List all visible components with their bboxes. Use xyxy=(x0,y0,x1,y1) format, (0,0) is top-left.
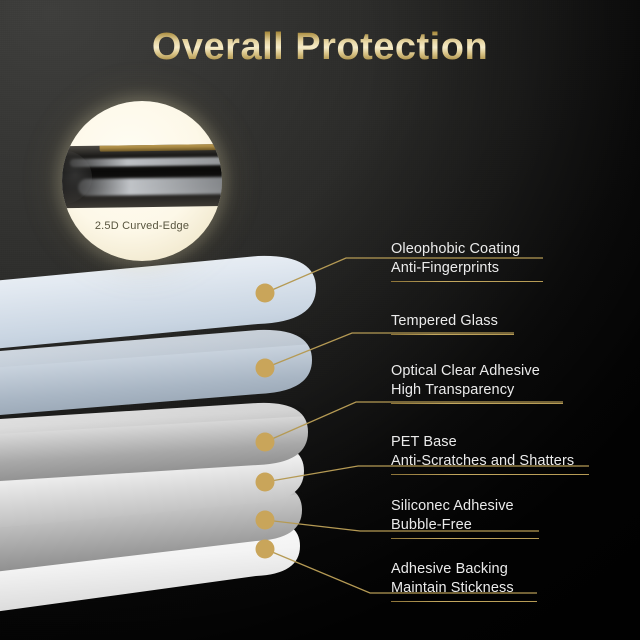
screen-protector-strip xyxy=(100,143,222,151)
callout-line2: Maintain Stickness xyxy=(391,579,537,598)
callout-line2: High Transparency xyxy=(391,381,563,400)
callout-line1: Optical Clear Adhesive xyxy=(391,363,540,379)
callout-tempered-glass: Tempered Glass xyxy=(391,312,514,335)
inset-caption: 2.5D Curved-Edge xyxy=(62,220,222,232)
callout-adhesive-backing: Adhesive Backing Maintain Stickness xyxy=(391,560,537,602)
callout-line1: PET Base xyxy=(391,434,457,450)
callout-line2: Bubble-Free xyxy=(391,516,539,535)
callout-optical-clear-adhesive: Optical Clear Adhesive High Transparency xyxy=(391,362,563,404)
callout-underline xyxy=(391,281,543,282)
callout-underline xyxy=(391,538,539,539)
callout-line1: Adhesive Backing xyxy=(391,561,508,577)
phone-edge-illustration xyxy=(62,143,222,208)
background-gradient xyxy=(0,0,640,640)
callout-line1: Tempered Glass xyxy=(391,313,498,329)
callout-line1: Siliconec Adhesive xyxy=(391,498,514,514)
edge-highlight-upper xyxy=(70,156,222,167)
callout-oleophobic-coating: Oleophobic Coating Anti-Fingerprints xyxy=(391,240,543,282)
callout-underline xyxy=(391,403,563,404)
curved-edge-inset: 2.5D Curved-Edge xyxy=(62,101,222,261)
callout-line1: Oleophobic Coating xyxy=(391,241,520,257)
product-infographic: Overall Protection 2.5D Curved-Edge Oleo… xyxy=(0,0,640,640)
page-title: Overall Protection xyxy=(0,26,640,69)
callout-underline xyxy=(391,601,537,602)
callout-pet-base: PET Base Anti-Scratches and Shatters xyxy=(391,433,589,475)
callout-line2: Anti-Scratches and Shatters xyxy=(391,452,589,471)
callout-siliconec-adhesive: Siliconec Adhesive Bubble-Free xyxy=(391,497,539,539)
callout-underline xyxy=(391,334,514,335)
callout-underline xyxy=(391,474,589,475)
edge-highlight-lower xyxy=(78,176,222,196)
callout-line2: Anti-Fingerprints xyxy=(391,259,543,278)
